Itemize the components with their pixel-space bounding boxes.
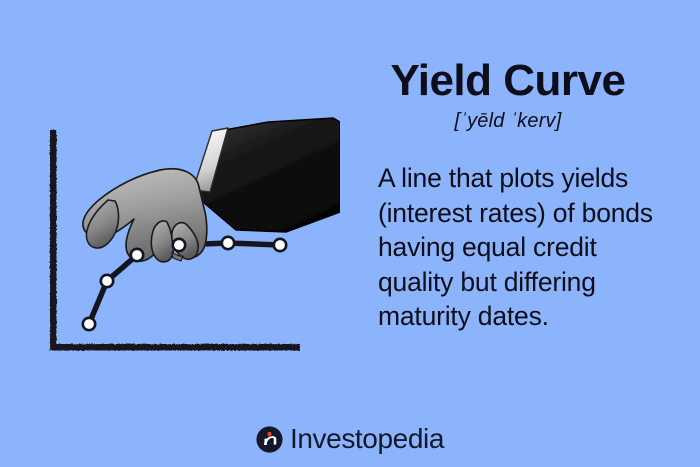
definition-text: A line that plots yields (interest rates… (378, 161, 658, 333)
yield-curve-illustration (0, 0, 340, 420)
investopedia-wordmark: Investopedia (290, 425, 444, 453)
hand (83, 169, 207, 262)
term-text-column: Yield Curve [ˈyēld ˈkerv] A line that pl… (358, 58, 658, 333)
definition-card: Yield Curve [ˈyēld ˈkerv] A line that pl… (0, 0, 700, 467)
investopedia-logo: Investopedia (0, 425, 700, 453)
pronunciation-text: [ˈyēld ˈkerv] (358, 110, 658, 133)
investopedia-logo-icon (256, 426, 283, 453)
chart-x-axis (50, 344, 300, 351)
chart-y-axis (50, 130, 57, 350)
page-title: Yield Curve (358, 58, 658, 104)
